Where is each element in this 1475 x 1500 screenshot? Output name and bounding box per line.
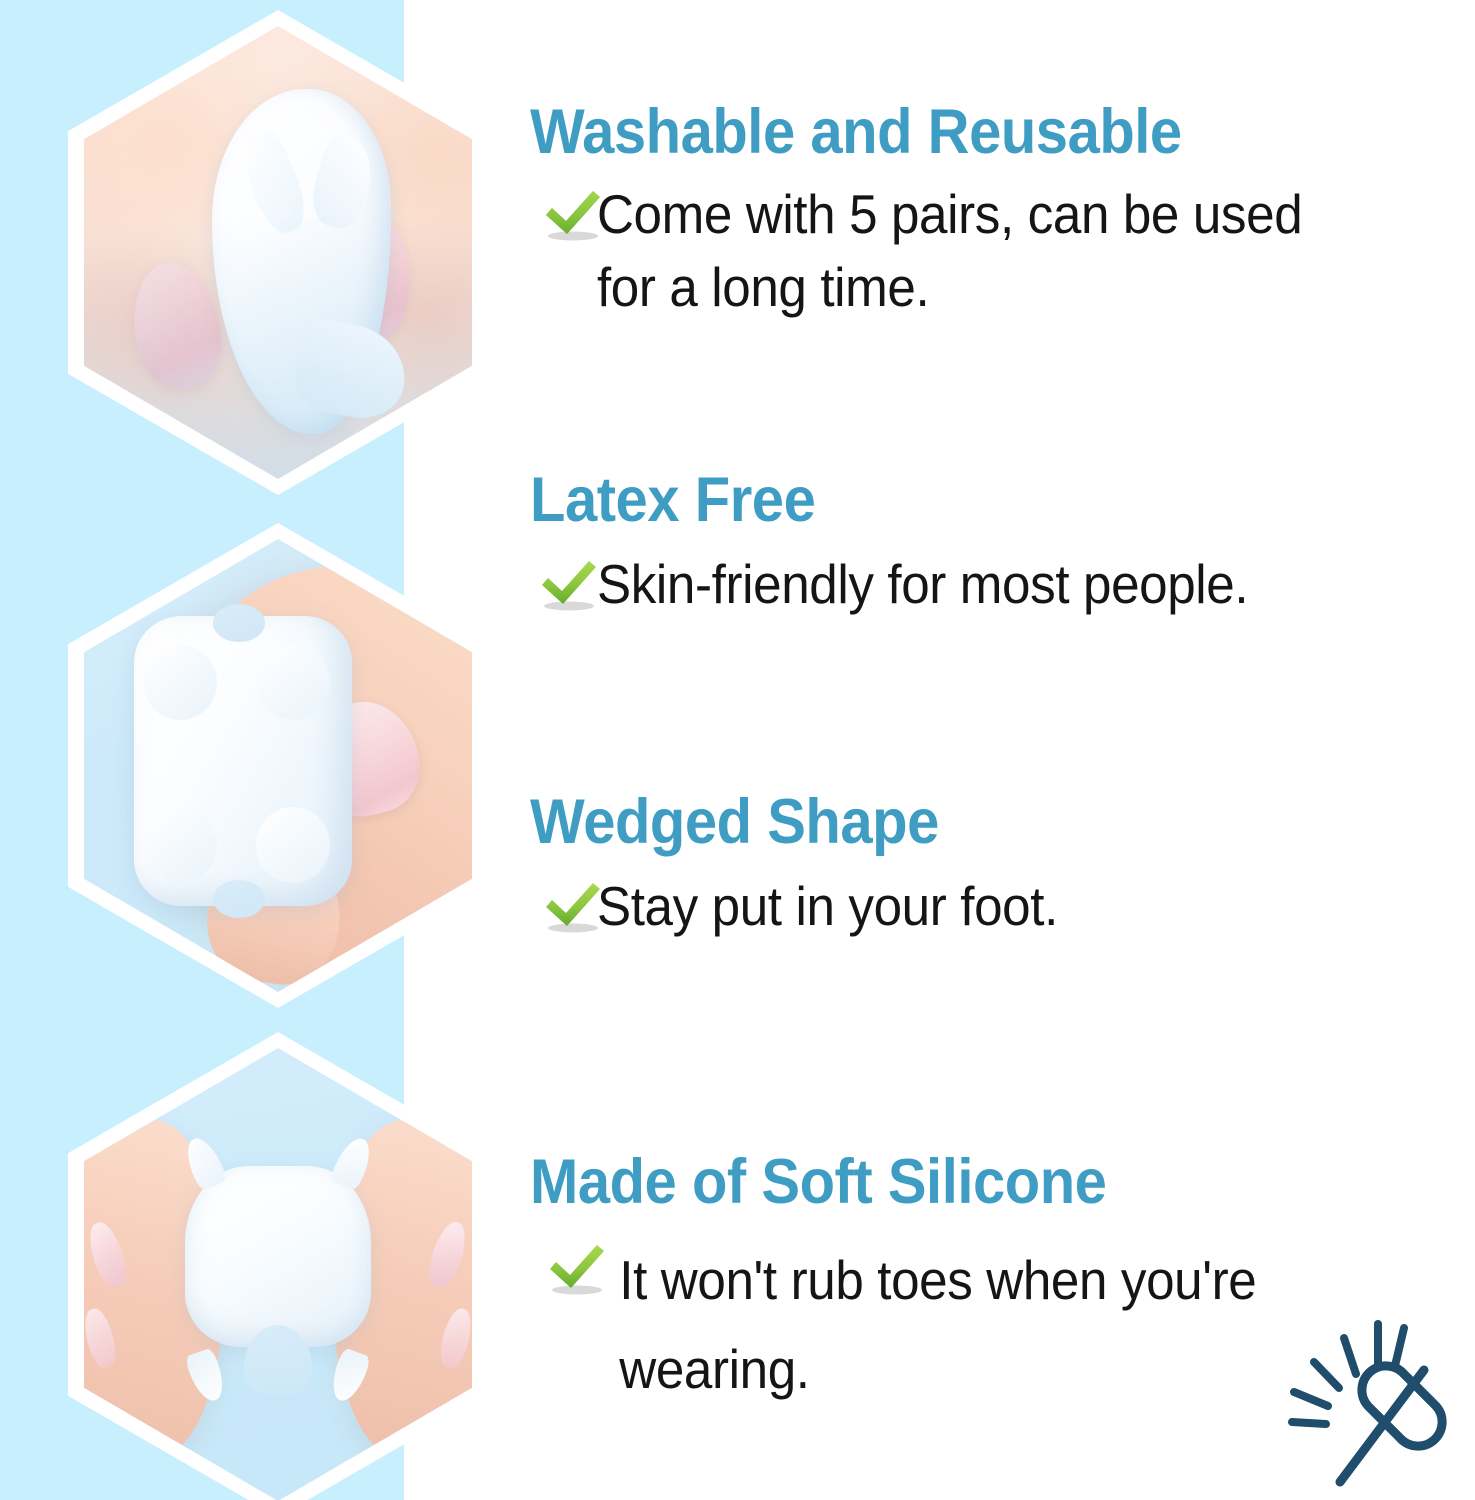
feature-body-line: wearing. bbox=[530, 1325, 1256, 1414]
feature-body: It won't rub toes when you're wearing. bbox=[530, 1236, 1256, 1414]
feature-photo-washable-and-reusable bbox=[68, 10, 488, 495]
push-pin-burst-icon bbox=[1282, 1312, 1467, 1498]
feature-block-washable-and-reusable: Washable and Reusable bbox=[530, 100, 1360, 323]
product-feature-infographic: Washable and Reusable bbox=[0, 0, 1475, 1500]
feature-body: Stay put in your foot. bbox=[530, 870, 1058, 943]
feature-block-made-of-soft-silicone: Made of Soft Silicone It won't ru bbox=[530, 1150, 1311, 1414]
feature-title: Washable and Reusable bbox=[530, 100, 1294, 164]
feature-body-line: Stay put in your foot. bbox=[530, 870, 1058, 943]
feature-title: Made of Soft Silicone bbox=[530, 1150, 1249, 1214]
feature-block-wedged-shape: Wedged Shape Stay put in your foo bbox=[530, 790, 1098, 943]
feature-photo-wedged-shape bbox=[68, 1032, 488, 1500]
feature-block-latex-free: Latex Free Skin-friendly for most bbox=[530, 468, 1302, 621]
feature-body: Skin-friendly for most people. bbox=[530, 548, 1248, 621]
feature-body-line: It won't rub toes when you're bbox=[530, 1236, 1256, 1325]
feature-title: Latex Free bbox=[530, 468, 1240, 532]
feature-body-line: Skin-friendly for most people. bbox=[530, 548, 1248, 621]
feature-photo-latex-free bbox=[68, 523, 488, 1008]
feature-body-line: for a long time. bbox=[530, 251, 1302, 324]
feature-title: Wedged Shape bbox=[530, 790, 1052, 854]
feature-body: Come with 5 pairs, can be used for a lon… bbox=[530, 178, 1302, 323]
feature-body-line: Come with 5 pairs, can be used bbox=[530, 178, 1302, 251]
